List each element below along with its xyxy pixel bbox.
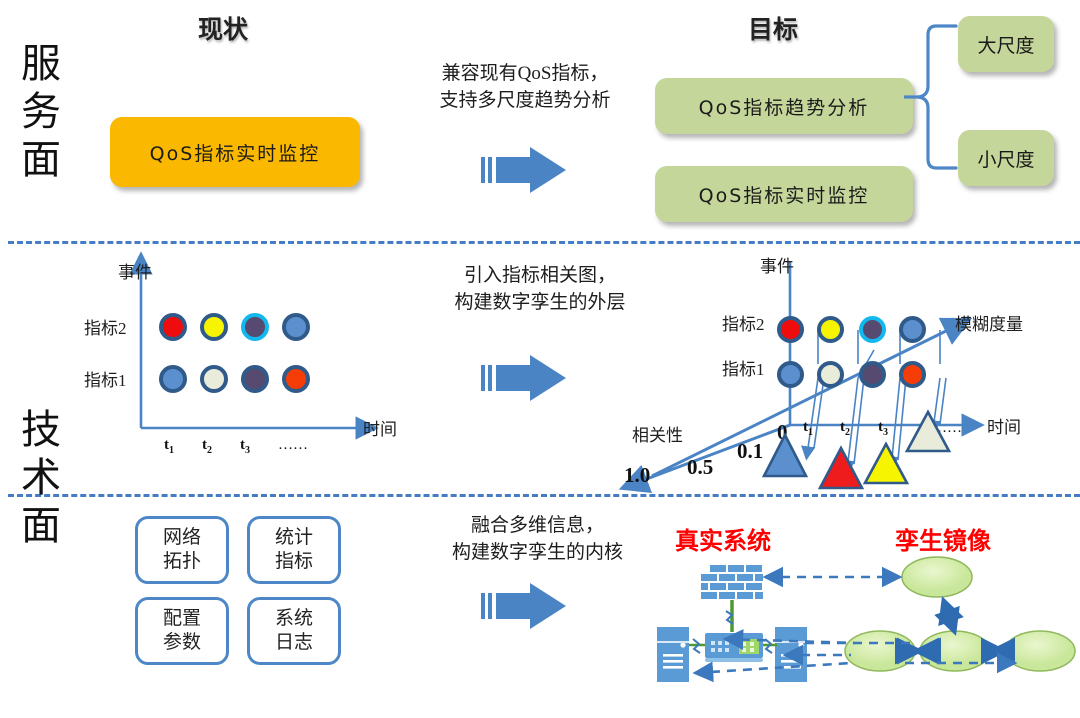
service-scale-box-large-label: 大尺度 xyxy=(977,31,1034,58)
service-scale-box-small[interactable]: 小尺度 xyxy=(958,130,1054,186)
service-goal-box-trend-label: QoS指标趋势分析 xyxy=(699,93,870,120)
source-box-config-params-line2: 参数 xyxy=(163,631,201,655)
right-chart-x-axis-label: 时间 xyxy=(987,413,1021,438)
tech-mid-block-arrow xyxy=(478,355,568,403)
left-chart-dot-m2-t3 xyxy=(241,313,269,341)
source-box-network-topology[interactable]: 网络 拓扑 xyxy=(135,516,229,584)
source-box-config-params-line1: 配置 xyxy=(163,607,201,631)
right-chart-corr-tick-1: 1.0 xyxy=(624,463,650,488)
right-chart-z-axis-label: 模糊度量 xyxy=(955,310,1023,335)
right-chart-corr-axis-label: 相关性 xyxy=(632,421,683,446)
right-chart-corr-tick-05: 0.5 xyxy=(687,455,713,480)
twin-mirror-heading: 孪生镜像 xyxy=(895,521,991,556)
service-scale-box-small-label: 小尺度 xyxy=(977,145,1034,172)
service-goal-box-trend[interactable]: QoS指标趋势分析 xyxy=(655,78,913,134)
left-chart-dot-m1-t2 xyxy=(200,365,228,393)
left-chart-dot-m2-t4 xyxy=(282,313,310,341)
left-chart-tick-t1: t1 xyxy=(164,437,174,456)
right-chart-row-label-metric1: 指标1 xyxy=(722,355,765,380)
divider-service-technical xyxy=(8,241,1080,244)
cloud-ellipse-icon xyxy=(902,557,972,597)
source-box-system-logs-line2: 日志 xyxy=(275,631,313,655)
source-box-network-topology-line2: 拓扑 xyxy=(163,550,201,574)
right-chart-dot-m1-t1 xyxy=(777,361,804,388)
left-chart-axes xyxy=(100,258,390,438)
left-chart-dot-m1-t3 xyxy=(241,365,269,393)
left-chart-tick-t3: t3 xyxy=(240,437,250,456)
left-chart-dot-m2-t1 xyxy=(159,313,187,341)
left-chart-dot-m1-t1 xyxy=(159,365,187,393)
tech-bottom-note-line2: 构建数字孪生的内核 xyxy=(405,539,670,566)
curly-brace-icon xyxy=(912,22,958,172)
tech-bottom-block-arrow xyxy=(478,583,568,631)
network-switch-icon xyxy=(705,633,763,662)
real-system-heading: 真实系统 xyxy=(675,521,771,556)
triangle-t3 xyxy=(865,444,907,483)
divider-technical-mid-bottom xyxy=(8,494,1080,497)
right-chart-dot-m1-t4 xyxy=(899,361,926,388)
left-chart-dot-m1-t4 xyxy=(282,365,310,393)
heading-current: 现状 xyxy=(198,10,248,46)
service-goal-box-monitor[interactable]: QoS指标实时监控 xyxy=(655,166,913,222)
triangle-t2 xyxy=(820,448,862,488)
right-chart-row-label-metric2: 指标2 xyxy=(722,310,765,335)
server-icon xyxy=(657,627,689,682)
source-box-system-logs-line1: 系统 xyxy=(275,607,313,631)
left-chart-y-axis-label: 事件 xyxy=(118,258,152,283)
source-box-statistics-metrics-line2: 指标 xyxy=(275,550,313,574)
right-chart-dot-m1-t2 xyxy=(817,361,844,388)
tech-bottom-note-line1: 融合多维信息， xyxy=(405,512,670,539)
heading-goal: 目标 xyxy=(748,10,798,46)
tech-bottom-transition-note: 融合多维信息， 构建数字孪生的内核 xyxy=(405,512,670,566)
right-chart-dot-m2-t4 xyxy=(899,316,926,343)
source-box-statistics-metrics-line1: 统计 xyxy=(275,526,313,550)
cloud-ellipse-icon xyxy=(845,631,915,671)
digital-twin-network-diagram xyxy=(655,555,1080,690)
service-transition-note-line2: 支持多尺度趋势分析 xyxy=(400,87,650,114)
plane-label-technical: 技术面 xyxy=(8,406,74,550)
left-chart-row-label-metric2: 指标2 xyxy=(84,314,127,339)
cloud-ellipse-icon xyxy=(920,631,990,671)
source-box-network-topology-line1: 网络 xyxy=(163,526,201,550)
left-chart-tick-ellipsis: …… xyxy=(278,437,308,454)
left-chart-x-axis-label: 时间 xyxy=(363,415,397,440)
right-chart-dot-m2-t3 xyxy=(859,316,886,343)
service-block-arrow xyxy=(478,147,568,195)
service-current-box-label: QoS指标实时监控 xyxy=(150,139,321,166)
plane-label-service: 服务面 xyxy=(8,40,74,184)
service-goal-box-monitor-label: QoS指标实时监控 xyxy=(699,181,870,208)
source-box-system-logs[interactable]: 系统 日志 xyxy=(247,597,341,665)
left-chart-dot-m2-t2 xyxy=(200,313,228,341)
left-chart-row-label-metric1: 指标1 xyxy=(84,366,127,391)
source-box-config-params[interactable]: 配置 参数 xyxy=(135,597,229,665)
left-chart-tick-t2: t2 xyxy=(202,437,212,456)
service-current-box[interactable]: QoS指标实时监控 xyxy=(110,117,360,187)
service-transition-note-line1: 兼容现有QoS指标， xyxy=(400,60,650,87)
source-box-statistics-metrics[interactable]: 统计 指标 xyxy=(247,516,341,584)
right-chart-dot-m2-t1 xyxy=(777,316,804,343)
right-chart-dot-m1-t3 xyxy=(859,361,886,388)
right-chart-y-axis-label: 事件 xyxy=(760,252,794,277)
right-chart-dot-m2-t2 xyxy=(817,316,844,343)
service-scale-box-large[interactable]: 大尺度 xyxy=(958,16,1054,72)
cloud-ellipse-icon xyxy=(1005,631,1075,671)
right-chart-triangles xyxy=(760,430,980,492)
service-transition-note: 兼容现有QoS指标， 支持多尺度趋势分析 xyxy=(400,60,650,114)
firewall-brick-icon xyxy=(701,565,763,599)
triangle-t1 xyxy=(764,435,806,476)
